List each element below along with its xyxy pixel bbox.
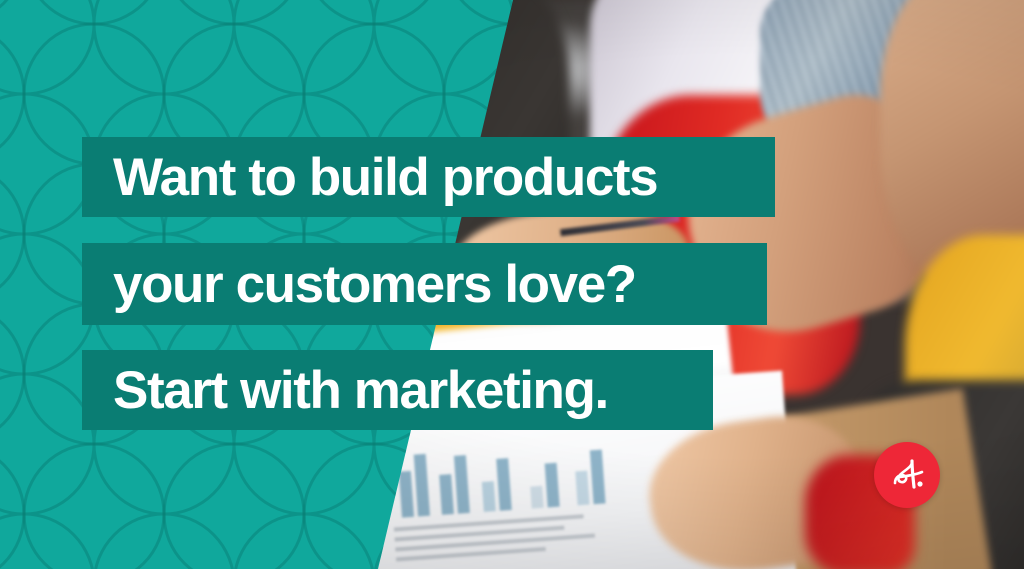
banner-canvas: Want to build products your customers lo… bbox=[0, 0, 1024, 569]
headline-line-1: Want to build products bbox=[82, 151, 657, 204]
headline-line-3: Start with marketing. bbox=[82, 364, 608, 417]
headline-line-2: your customers love? bbox=[82, 258, 636, 311]
headline-band-3: Start with marketing. bbox=[82, 350, 713, 430]
headline-band-2: your customers love? bbox=[82, 243, 767, 325]
appcues-a-logo[interactable] bbox=[874, 442, 940, 508]
headline-band-1: Want to build products bbox=[82, 137, 775, 217]
